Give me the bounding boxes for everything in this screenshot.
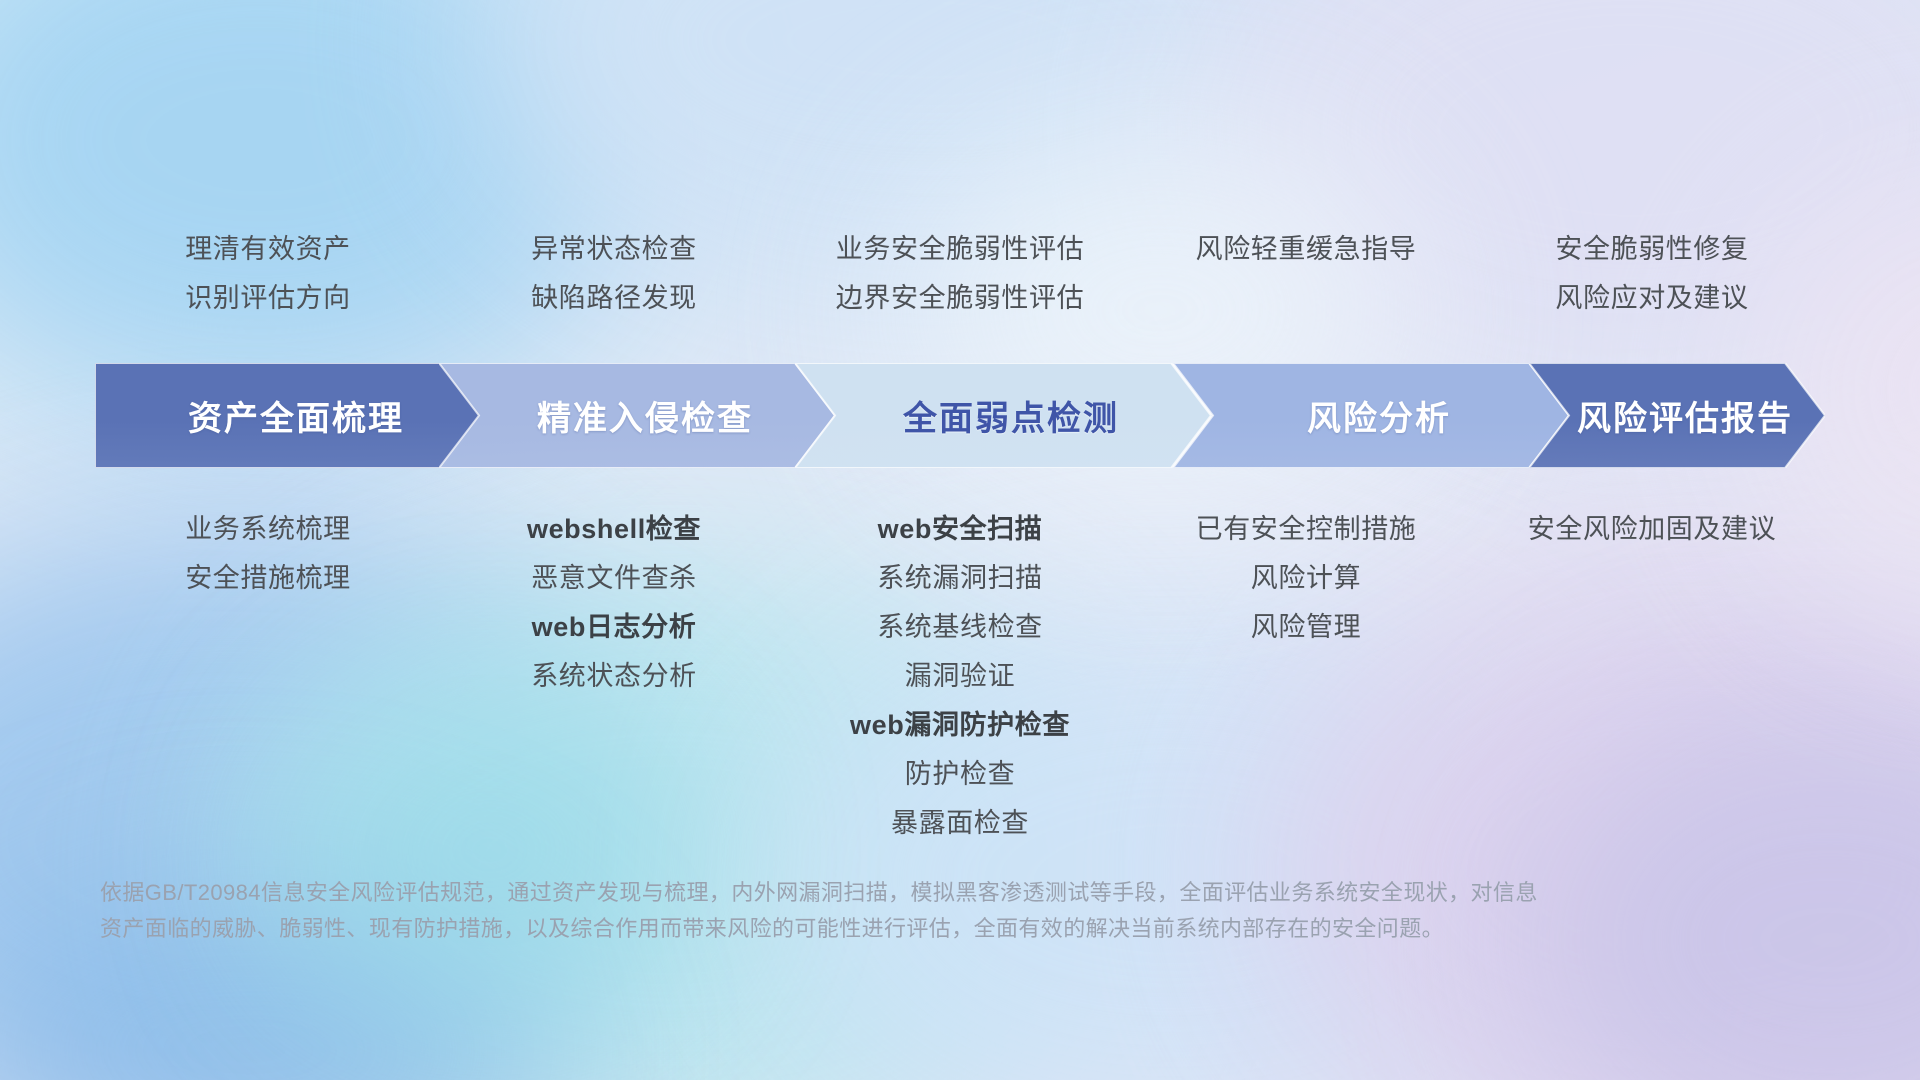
list-item: 安全脆弱性修复	[1555, 225, 1748, 274]
column-assessment-report: 安全风险加固及建议	[1479, 505, 1825, 554]
list-item: 系统基线检查	[877, 603, 1043, 652]
list-item: 暴露面检查	[891, 799, 1029, 848]
stage-arrow-asset-inventory[interactable]: 资产全面梳理	[95, 363, 481, 468]
list-item: 业务安全脆弱性评估	[836, 225, 1084, 274]
list-item: web安全扫描	[878, 505, 1043, 554]
process-diagram: 理清有效资产识别评估方向异常状态检查缺陷路径发现业务安全脆弱性评估边界安全脆弱性…	[0, 0, 1920, 1080]
list-item: 系统漏洞扫描	[877, 554, 1043, 603]
column-risk-analysis: 风险轻重缓急指导	[1133, 225, 1479, 274]
list-item: 理清有效资产	[185, 225, 351, 274]
list-item: 边界安全脆弱性评估	[836, 274, 1084, 323]
stage-arrow-label: 全面弱点检测	[795, 391, 1211, 440]
list-item: web日志分析	[532, 603, 697, 652]
list-item: 已有安全控制措施	[1196, 505, 1417, 554]
list-item: 漏洞验证	[905, 652, 1015, 701]
list-item: 防护检查	[905, 750, 1015, 799]
stage-arrow-intrusion-check[interactable]: 精准入侵检查	[439, 363, 835, 468]
column-assessment-report: 安全脆弱性修复风险应对及建议	[1479, 225, 1825, 323]
footer-line-2: 资产面临的威胁、脆弱性、现有防护措施，以及综合作用而带来风险的可能性进行评估，全…	[100, 911, 1620, 947]
column-asset-inventory: 业务系统梳理安全措施梳理	[95, 505, 441, 603]
list-item: 风险应对及建议	[1555, 274, 1748, 323]
list-item: 系统状态分析	[531, 652, 697, 701]
list-item: web漏洞防护检查	[850, 701, 1070, 750]
stage-arrow-label: 风险分析	[1173, 391, 1569, 440]
stage-arrow-assessment-report[interactable]: 风险评估报告	[1529, 363, 1825, 468]
list-item: 识别评估方向	[185, 274, 351, 323]
list-item: 业务系统梳理	[185, 505, 351, 554]
list-item: 风险管理	[1251, 603, 1361, 652]
column-intrusion-check: webshell检查恶意文件查杀web日志分析系统状态分析	[441, 505, 787, 701]
list-item: 风险轻重缓急指导	[1196, 225, 1417, 274]
column-weakness-detection: web安全扫描系统漏洞扫描系统基线检查漏洞验证web漏洞防护检查防护检查暴露面检…	[787, 505, 1133, 848]
stage-arrow-label: 风险评估报告	[1529, 391, 1825, 440]
list-item: 风险计算	[1251, 554, 1361, 603]
column-intrusion-check: 异常状态检查缺陷路径发现	[441, 225, 787, 323]
list-item: 缺陷路径发现	[531, 274, 697, 323]
list-item: 异常状态检查	[531, 225, 697, 274]
stage-arrow-label: 精准入侵检查	[439, 391, 835, 440]
list-item: 安全风险加固及建议	[1528, 505, 1776, 554]
stage-arrow-risk-analysis[interactable]: 风险分析	[1173, 363, 1569, 468]
stage-arrow-weakness-detection[interactable]: 全面弱点检测	[795, 363, 1211, 468]
list-item: 安全措施梳理	[185, 554, 351, 603]
stage-arrow-label: 资产全面梳理	[95, 391, 481, 440]
footer-description: 依据GB/T20984信息安全风险评估规范，通过资产发现与梳理，内外网漏洞扫描，…	[100, 875, 1620, 947]
list-item: webshell检查	[527, 505, 701, 554]
column-asset-inventory: 理清有效资产识别评估方向	[95, 225, 441, 323]
lower-activities-row: 业务系统梳理安全措施梳理webshell检查恶意文件查杀web日志分析系统状态分…	[95, 505, 1825, 848]
footer-line-1: 依据GB/T20984信息安全风险评估规范，通过资产发现与梳理，内外网漏洞扫描，…	[100, 875, 1620, 911]
list-item: 恶意文件查杀	[531, 554, 697, 603]
stage-arrow-band: 资产全面梳理精准入侵检查全面弱点检测风险分析风险评估报告	[95, 363, 1825, 468]
column-weakness-detection: 业务安全脆弱性评估边界安全脆弱性评估	[787, 225, 1133, 323]
column-risk-analysis: 已有安全控制措施风险计算风险管理	[1133, 505, 1479, 652]
upper-outcomes-row: 理清有效资产识别评估方向异常状态检查缺陷路径发现业务安全脆弱性评估边界安全脆弱性…	[95, 225, 1825, 323]
